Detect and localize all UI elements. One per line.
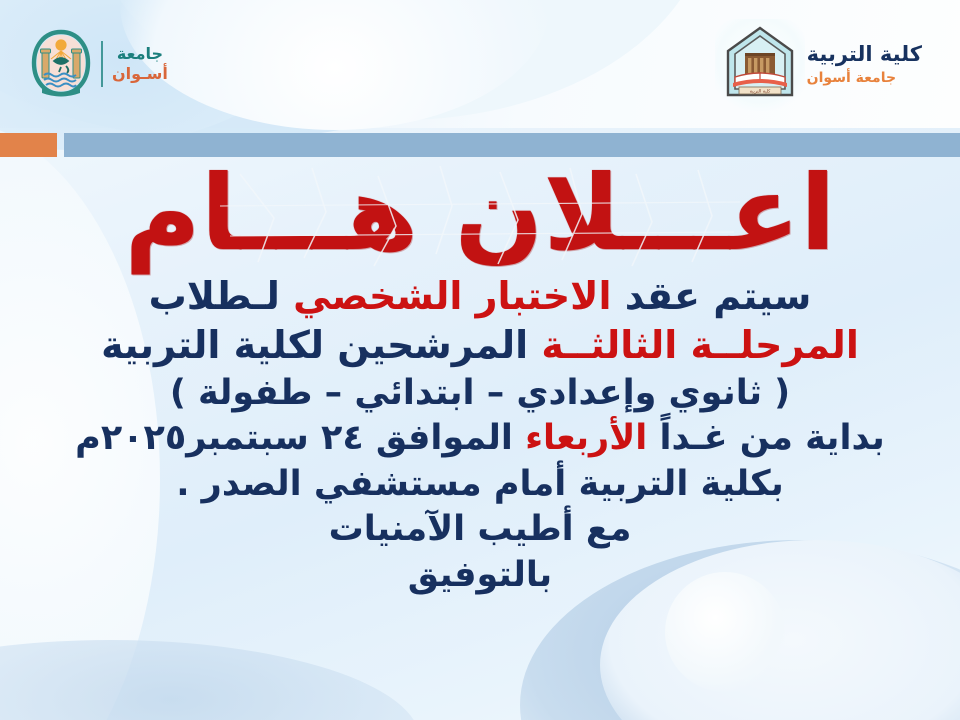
faculty-brand-text: كلية التربية جامعة أسوان [807,42,922,86]
announcement-line-6: مع أطيب الآمنيات [0,507,960,553]
orange-accent-bar [0,133,57,157]
text-segment-1: بالتوفيق [408,555,552,595]
announcement-line-3: ( ثانوي وإعدادي – ابتدائي – طفولة ) [0,371,960,417]
announcement-poster: كلية التربية جامعة أسوان [0,0,960,720]
text-segment-1: بداية من غـداً [647,418,885,458]
text-segment-1: بكلية التربية أمام مستشفي الصدر . [176,464,784,504]
announcement-line-2: المرحلــة الثالثــة المرشحين لكلية الترب… [0,321,960,370]
text-segment-2: الاختبار الشخصي [293,274,611,318]
university-line-1: جامعة [112,45,168,63]
announcement-body: سيتم عقد الاختبار الشخصي لـطلاب المرحلــ… [0,272,960,598]
announcement-line-1: سيتم عقد الاختبار الشخصي لـطلاب [0,272,960,321]
announcement-content: اعـــلان هـــام سيتم عقد الاختبار الشخصي [0,160,960,598]
aswan-university-crest-icon [30,28,92,100]
announcement-line-4: بداية من غـداً الأربعاء الموافق ٢٤ سبتمب… [0,416,960,462]
text-segment-1: سيتم عقد [611,274,811,318]
announcement-line-7: بالتوفيق [0,553,960,599]
faculty-brand-lockup: كلية التربية جامعة أسوان [723,25,922,103]
svg-text:كلية التربية: كلية التربية [749,89,771,95]
aswan-university-lockup: جامعة أسـوان [30,28,168,100]
university-name-text: جامعة أسـوان [112,45,168,83]
announcement-line-5: بكلية التربية أمام مستشفي الصدر . [0,462,960,508]
swoosh-bottom-left [0,640,420,720]
faculty-of-education-crest-icon: كلية التربية [723,25,797,103]
poster-header: كلية التربية جامعة أسوان [0,0,960,128]
faculty-title: كلية التربية [807,42,922,66]
text-segment-1: ( ثانوي وإعدادي – ابتدائي – طفولة ) [170,373,790,413]
text-segment-2: الأربعاء [525,418,647,458]
faculty-subtitle: جامعة أسوان [807,70,922,86]
announcement-headline: اعـــلان هـــام [124,152,835,274]
announcement-headline-wrap: اعـــلان هـــام [0,160,960,266]
text-segment-3: الموافق ٢٤ سبتمبر٢٠٢٥م [75,418,525,458]
text-segment-1: مع أطيب الآمنيات [329,509,632,549]
text-segment-2: المرشحين لكلية التربية [101,323,541,367]
university-line-2: أسـوان [112,65,168,83]
lockup-divider [101,41,103,87]
text-segment-3: لـطلاب [149,274,294,318]
text-segment-1: المرحلــة الثالثــة [541,323,858,367]
